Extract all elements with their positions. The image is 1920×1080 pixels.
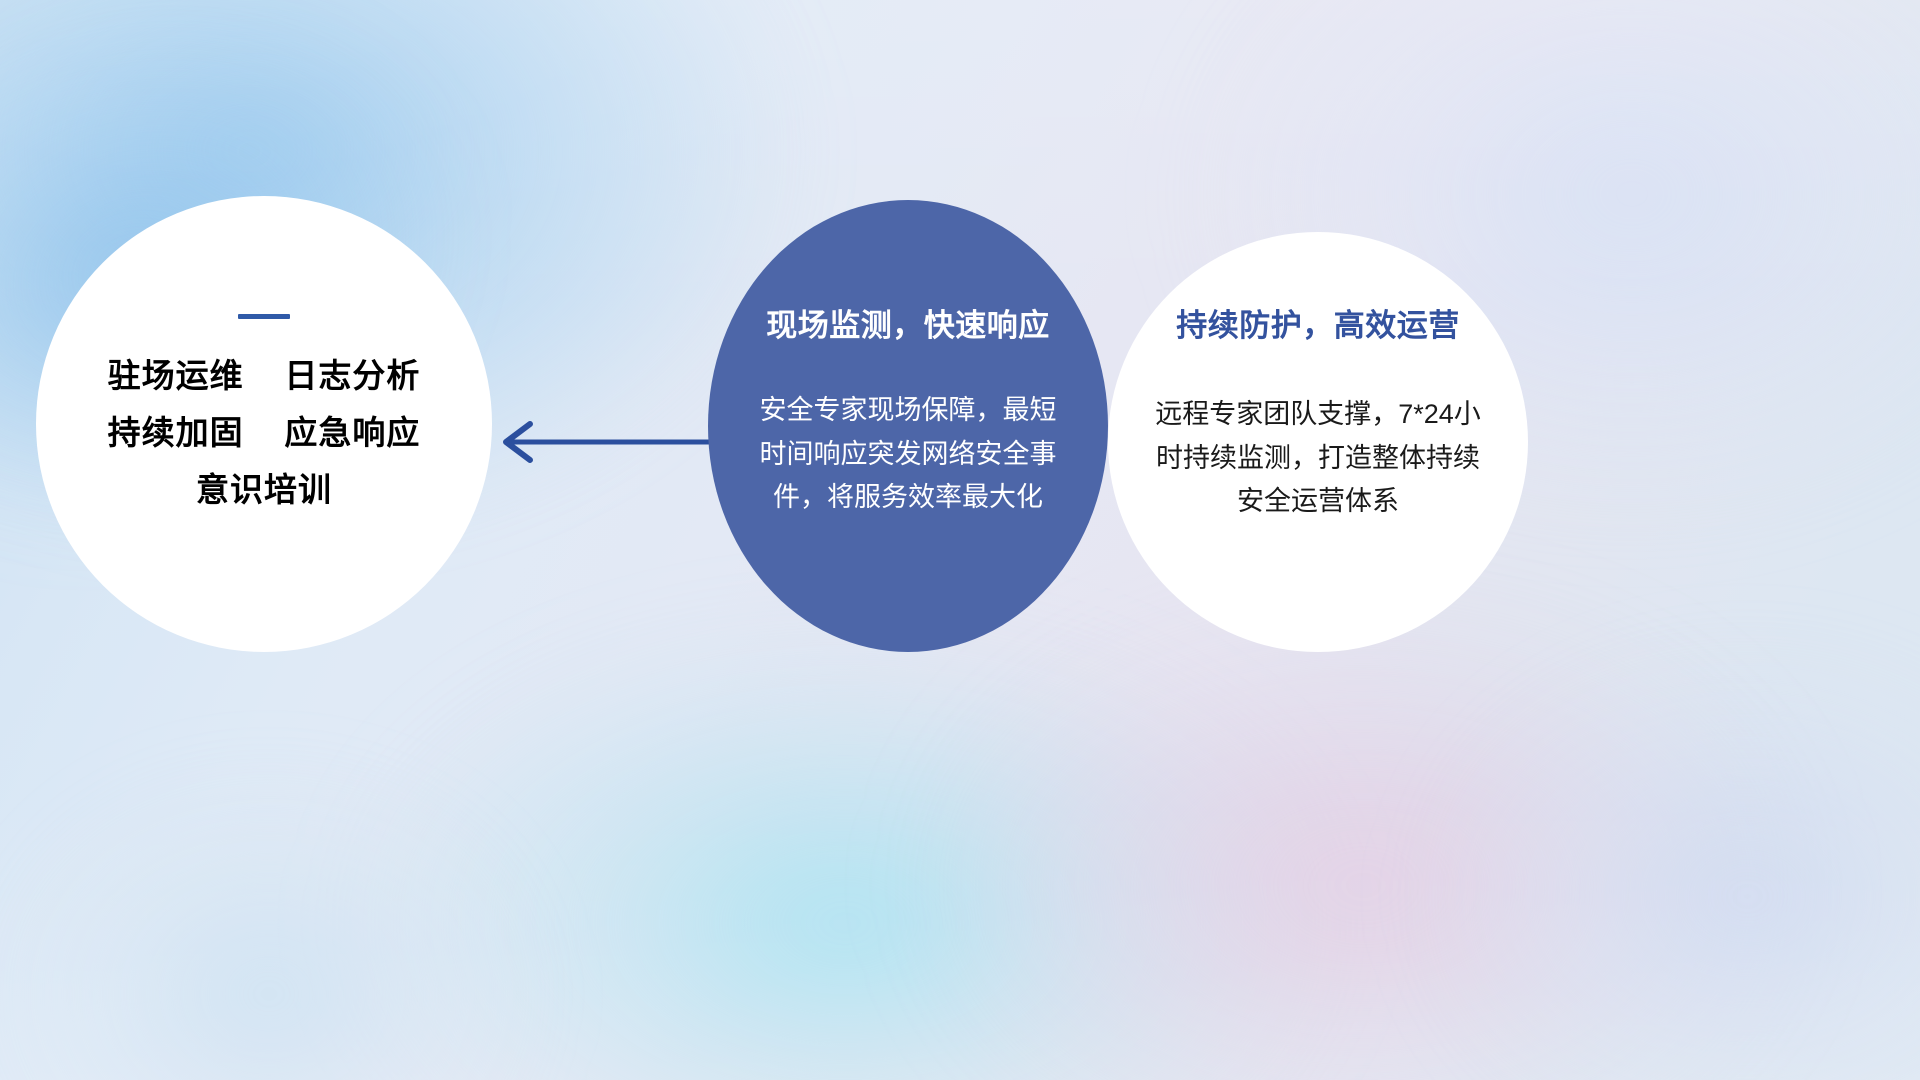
arrow-left-icon [492, 418, 722, 466]
onsite-monitoring-title: 现场监测，快速响应 [766, 300, 1050, 345]
horizontal-rule-icon [238, 314, 290, 319]
onsite-monitoring-body: 安全专家现场保障，最短时间响应突发网络安全事件，将服务效率最大化 [758, 389, 1058, 520]
continuous-protection-circle: 持续防护，高效运营 远程专家团队支撑，7*24小时持续监测，打造整体持续安全运营… [1108, 232, 1528, 652]
service-items-list: 驻场运维 日志分析 持续加固 应急响应 意识培训 [36, 359, 492, 506]
service-items-circle: 驻场运维 日志分析 持续加固 应急响应 意识培训 [36, 196, 492, 652]
slide-canvas: 驻场运维 日志分析 持续加固 应急响应 意识培训 现场监测，快速响应 安全专家现… [0, 0, 1920, 1080]
continuous-protection-title: 持续防护，高效运营 [1176, 300, 1460, 345]
service-item-row: 持续加固 应急响应 [108, 416, 421, 449]
continuous-protection-body: 远程专家团队支撑，7*24小时持续监测，打造整体持续安全运营体系 [1146, 393, 1491, 524]
onsite-monitoring-circle: 现场监测，快速响应 安全专家现场保障，最短时间响应突发网络安全事件，将服务效率最… [708, 200, 1108, 652]
service-item-row: 意识培训 [196, 473, 332, 506]
service-item-row: 驻场运维 日志分析 [108, 359, 421, 392]
